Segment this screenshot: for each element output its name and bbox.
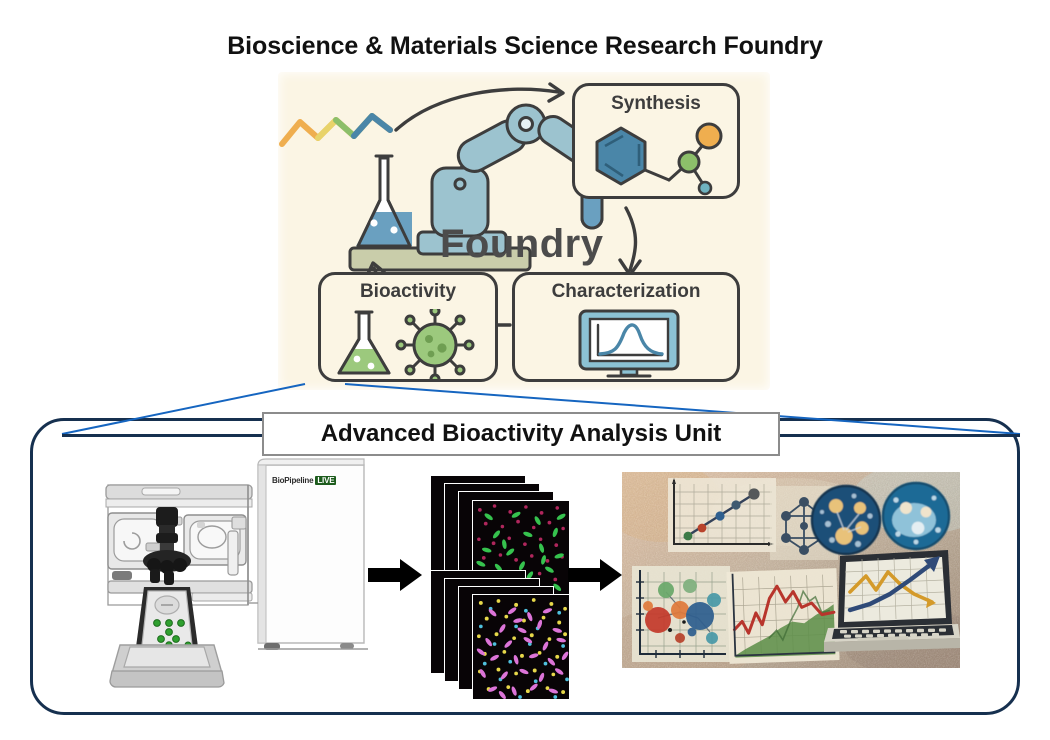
live-cell-imaging-microscope (72, 455, 372, 690)
lower-panel-title-box: Advanced Bioactivity Analysis Unit (262, 412, 780, 456)
foundry-node-characterization[interactable]: Characterization (512, 272, 740, 382)
arrow-images-to-analysis-icon (566, 556, 626, 596)
scatter-trendline-chart (668, 478, 776, 552)
foundry-center-label: Foundry (440, 222, 603, 267)
foundry-node-bioactivity-label: Bioactivity (321, 281, 495, 303)
foundry-node-synthesis[interactable]: Synthesis (572, 83, 740, 199)
shell-border-top-right (778, 434, 1020, 437)
arrow-instrument-to-images-icon (366, 556, 426, 596)
foundry-node-bioactivity[interactable]: Bioactivity (318, 272, 498, 382)
laptop-line-chart (824, 550, 960, 652)
cell-cluster-left (812, 486, 880, 554)
instrument-brand-badge: LIVE (315, 476, 336, 485)
monitor-spectrum-icon (574, 309, 684, 379)
cell-cluster-right (883, 483, 949, 549)
data-analysis-collage (622, 472, 960, 668)
benzene-molecule-icon (577, 118, 739, 198)
instrument-brand-text: BioPipeline (272, 476, 313, 485)
arrow-synthesis-to-characterization-icon (620, 208, 640, 275)
zigzag-trend-icon (282, 116, 390, 144)
flask-blue-icon (356, 156, 412, 246)
foundry-node-characterization-label: Characterization (515, 281, 737, 303)
line-area-chart (726, 568, 839, 664)
foundry-node-synthesis-label: Synthesis (575, 93, 737, 115)
shell-border-top-left (62, 434, 264, 437)
flask-virus-icon (333, 309, 491, 379)
lower-panel-title: Advanced Bioactivity Analysis Unit (321, 420, 722, 448)
instrument-brand: BioPipelineLIVE (272, 476, 336, 485)
bubble-network-chart (632, 566, 730, 662)
page-title: Bioscience & Materials Science Research … (0, 32, 1050, 61)
